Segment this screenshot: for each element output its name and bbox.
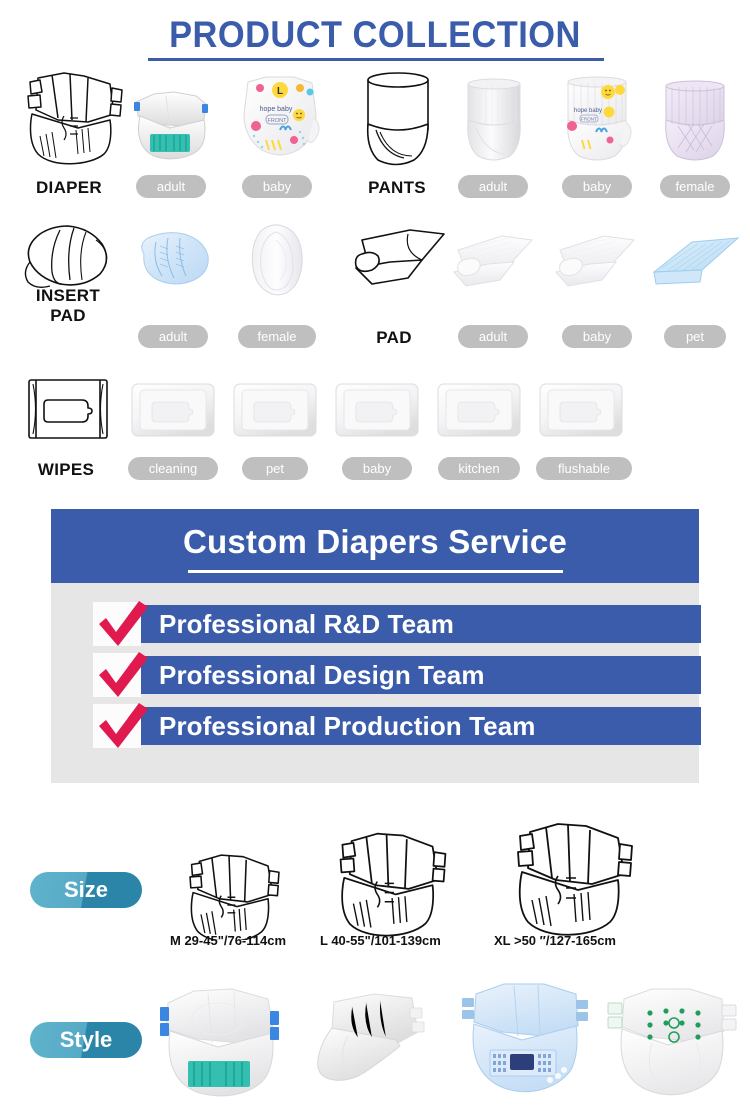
- service-header: Custom Diapers Service: [51, 509, 699, 583]
- underpad-sheet-photo-icon: [554, 234, 638, 290]
- size-item-m: M 29-45"/76-114cm: [166, 840, 312, 945]
- style-item-green-dots: [600, 985, 744, 1105]
- product-item-pad-pet: pet: [650, 222, 742, 348]
- wipes-pack-photo-icon: [436, 382, 522, 438]
- size-caption-xl: XL >50 ″/127-165cm: [494, 933, 616, 948]
- service-item-label: Professional Design Team: [159, 656, 485, 694]
- variant-pill-adult[interactable]: adult: [458, 325, 528, 348]
- title-underline: [148, 58, 604, 61]
- product-item-wipes-kitchen: kitchen: [434, 376, 524, 480]
- product-item-diaper-outline: DIAPER: [10, 68, 128, 198]
- variant-pill-female[interactable]: female: [238, 325, 316, 348]
- product-item-wipes-outline: WIPES: [6, 376, 126, 480]
- category-label-pants: PANTS: [344, 178, 450, 198]
- style-item-white: [300, 988, 440, 1108]
- svg-text:FRONT: FRONT: [268, 118, 288, 124]
- variant-pill-baby[interactable]: baby: [242, 175, 312, 198]
- service-item-label: Professional Production Team: [159, 707, 536, 745]
- variant-pill-cleaning[interactable]: cleaning: [128, 457, 218, 480]
- diaper-outline-icon: [166, 840, 296, 940]
- product-item-pants-baby: hope baby FRONT baby: [554, 68, 640, 198]
- variant-pill-adult[interactable]: adult: [136, 175, 206, 198]
- wipes-pack-photo-icon: [232, 382, 318, 438]
- size-item-l: L 40-55"/101-139cm: [318, 826, 470, 944]
- variant-pill-baby[interactable]: baby: [562, 175, 632, 198]
- check-icon: [93, 653, 141, 697]
- svg-text:hope baby: hope baby: [574, 108, 602, 114]
- adult-pants-photo-icon: [458, 78, 530, 164]
- underpad-sheet-photo-icon: [452, 234, 536, 290]
- size-badge[interactable]: Size: [30, 872, 142, 908]
- style-item-teal: [148, 985, 290, 1105]
- variant-pill-flushable[interactable]: flushable: [536, 457, 632, 480]
- adult-pants-outline-icon: [356, 70, 440, 168]
- product-item-pants-outline: PANTS: [344, 68, 450, 198]
- wipes-pack-photo-icon: [130, 382, 216, 438]
- variant-pill-kitchen[interactable]: kitchen: [438, 457, 520, 480]
- wipes-pack-outline-icon: [24, 376, 112, 442]
- adult-diaper-outline-icon: [18, 70, 128, 168]
- service-item[interactable]: Professional Production Team: [93, 707, 663, 745]
- product-item-pants-female: female: [652, 68, 738, 198]
- size-caption-m: M 29-45"/76-114cm: [170, 933, 286, 948]
- category-label-insert-pad-line1: INSERT: [6, 286, 130, 306]
- service-item[interactable]: Professional Design Team: [93, 656, 663, 694]
- underpad-outline-icon: [348, 226, 452, 292]
- category-label-pad: PAD: [340, 328, 448, 348]
- service-item-label: Professional R&D Team: [159, 605, 454, 643]
- category-label-insert-pad: INSERT PAD: [6, 286, 130, 326]
- product-row-3: WIPES cleaning pet: [0, 376, 750, 480]
- diaper-outline-icon: [318, 826, 458, 938]
- underpad-sheet-blue-photo-icon: [650, 236, 742, 288]
- diaper-outline-icon: [494, 818, 650, 938]
- baby-pants-photo-icon: hope baby FRONT: [558, 76, 636, 164]
- svg-text:L: L: [277, 86, 283, 97]
- page-title: PRODUCT COLLECTION: [26, 14, 724, 56]
- product-item-pad-outline: PAD: [340, 222, 448, 348]
- service-item[interactable]: Professional R&D Team: [93, 605, 663, 643]
- category-label-diaper: DIAPER: [10, 178, 128, 198]
- size-caption-l: L 40-55"/101-139cm: [320, 933, 441, 948]
- product-item-insert-pad-outline: INSERT PAD: [6, 222, 130, 348]
- baby-diaper-photo-icon: L hope baby FRONT: [236, 74, 324, 164]
- category-label-wipes: WIPES: [6, 460, 126, 480]
- style-item-blue: [452, 980, 594, 1106]
- female-pants-photo-icon: [656, 80, 734, 164]
- style-diaper-white-icon: [300, 988, 440, 1108]
- product-item-pad-baby: baby: [554, 222, 640, 348]
- sanitary-napkin-photo-icon: [242, 222, 312, 300]
- product-row-1: DIAPER adult: [0, 68, 750, 198]
- variant-pill-baby[interactable]: baby: [342, 457, 412, 480]
- check-icon: [93, 602, 141, 646]
- variant-pill-adult[interactable]: adult: [458, 175, 528, 198]
- service-title-underline: [188, 570, 563, 573]
- product-item-wipes-cleaning: cleaning: [128, 376, 218, 480]
- style-diaper-teal-icon: [148, 985, 290, 1105]
- variant-pill-pet[interactable]: pet: [242, 457, 308, 480]
- wipes-pack-photo-icon: [334, 382, 420, 438]
- product-item-wipes-baby: baby: [332, 376, 422, 480]
- variant-pill-pet[interactable]: pet: [664, 325, 726, 348]
- style-badge[interactable]: Style: [30, 1022, 142, 1058]
- service-title: Custom Diapers Service: [51, 523, 699, 561]
- product-item-pants-adult: adult: [452, 68, 534, 198]
- custom-service-panel: Custom Diapers Service Professional R&D …: [51, 509, 699, 783]
- product-row-2: INSERT PAD adult: [0, 222, 750, 348]
- product-item-insert-pad-adult: adult: [132, 222, 214, 348]
- check-icon: [93, 704, 141, 748]
- product-item-diaper-baby: L hope baby FRONT baby: [232, 68, 328, 198]
- style-diaper-green-dots-icon: [600, 985, 744, 1105]
- adult-diaper-photo-icon: [130, 90, 212, 162]
- category-label-insert-pad-line2: PAD: [6, 306, 130, 326]
- product-item-wipes-flushable: flushable: [536, 376, 632, 480]
- insert-pad-outline-icon: [16, 222, 122, 294]
- product-item-diaper-adult: adult: [130, 68, 212, 198]
- product-item-pad-adult: adult: [452, 222, 534, 348]
- svg-text:FRONT: FRONT: [581, 117, 597, 122]
- product-item-insert-pad-female: female: [234, 222, 320, 348]
- svg-text:hope baby: hope baby: [260, 106, 293, 113]
- service-body: Professional R&D Team Professional Desig…: [51, 583, 699, 783]
- variant-pill-adult[interactable]: adult: [138, 325, 208, 348]
- adult-insert-pad-photo-icon: [132, 228, 214, 290]
- variant-pill-female[interactable]: female: [660, 175, 730, 198]
- variant-pill-baby[interactable]: baby: [562, 325, 632, 348]
- wipes-pack-photo-icon: [538, 382, 624, 438]
- size-item-xl: XL >50 ″/127-165cm: [494, 818, 664, 944]
- style-diaper-blue-icon: [452, 980, 594, 1106]
- product-item-wipes-pet: pet: [230, 376, 320, 480]
